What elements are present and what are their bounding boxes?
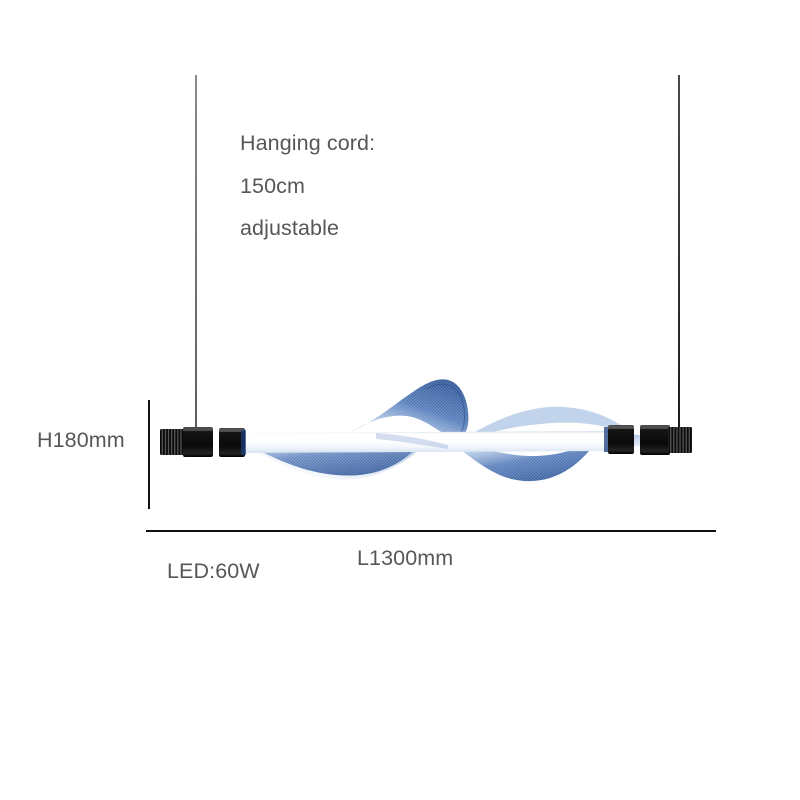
specification-diagram: Hanging cord: 150cm adjustable H180mm L1…	[0, 0, 800, 800]
hanging-cord-note-line-3: adjustable	[240, 218, 339, 240]
height-dimension-label: H180mm	[37, 430, 125, 452]
led-power-label: LED:60W	[167, 561, 260, 583]
hanging-cord-note-line-1: Hanging cord:	[240, 133, 375, 155]
length-measurement-rule	[146, 530, 716, 532]
end-cap-left	[160, 427, 246, 457]
hanging-cord-note-line-2: 150cm	[240, 176, 305, 198]
end-cap-right	[604, 425, 692, 455]
pendant-lamp-fixture	[140, 375, 710, 510]
length-dimension-label: L1300mm	[357, 548, 453, 570]
